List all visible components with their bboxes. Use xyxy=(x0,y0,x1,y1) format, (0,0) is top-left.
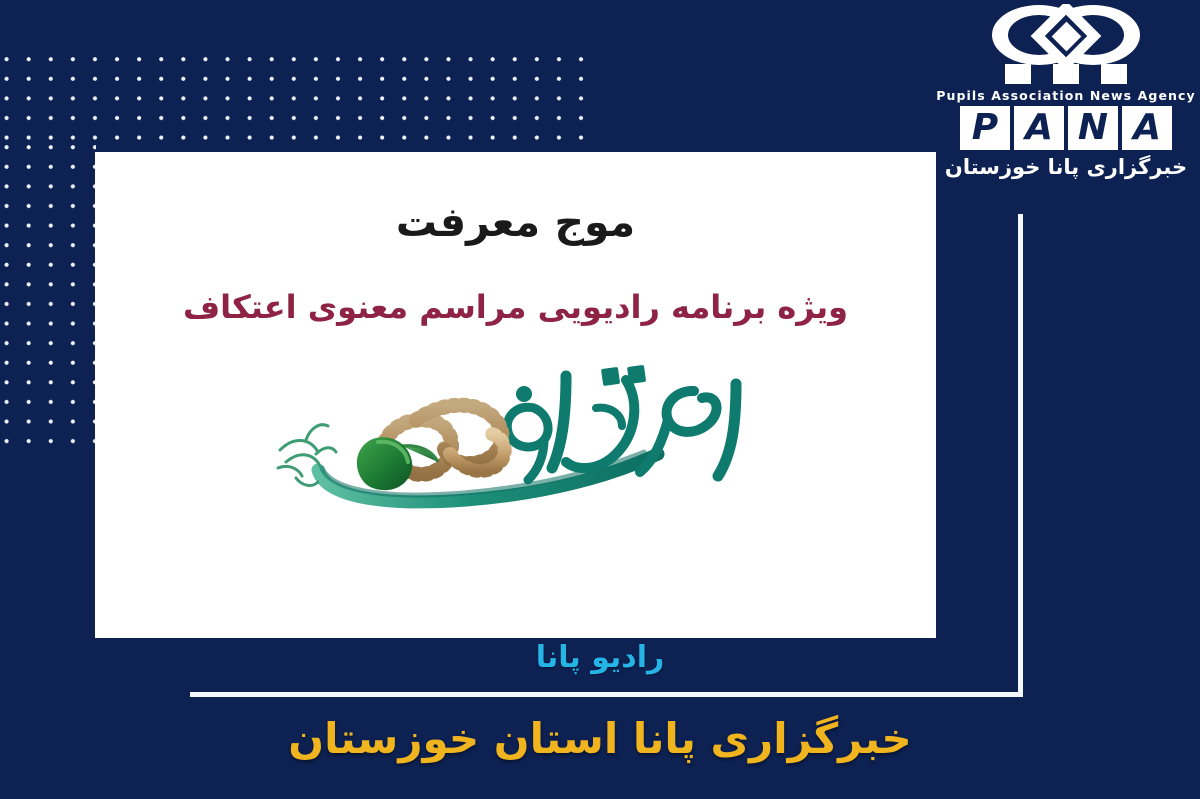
logo-letter-a2: A xyxy=(1122,106,1172,150)
logo-letter-n: N xyxy=(1068,106,1118,150)
logo-persian-name: خبرگزاری پانا خوزستان xyxy=(945,155,1187,179)
dot-pattern-left xyxy=(0,145,96,445)
logo-wordmark: P A N A xyxy=(960,106,1172,150)
logo-square-3 xyxy=(1005,64,1031,84)
logo-square-2 xyxy=(1053,64,1079,84)
logo-square-accents xyxy=(1005,64,1127,84)
poster-canvas: موج معرفت ویژه برنامه رادیویی مراسم معنو… xyxy=(0,0,1200,799)
logo-letter-a1: A xyxy=(1014,106,1064,150)
agency-name-label: خبرگزاری پانا استان خوزستان xyxy=(0,714,1200,763)
frame-line-vertical xyxy=(1018,214,1023,697)
content-card: موج معرفت ویژه برنامه رادیویی مراسم معنو… xyxy=(95,152,936,638)
frame-line-horizontal xyxy=(190,692,1023,697)
logo-letter-p: P xyxy=(960,106,1010,150)
etekaf-calligraphy-artwork xyxy=(266,350,766,535)
program-title: موج معرفت xyxy=(396,200,635,245)
dot-pattern-top xyxy=(0,55,598,155)
logo-square-1 xyxy=(1101,64,1127,84)
logo-tagline: Pupils Association News Agency xyxy=(936,88,1196,103)
pana-emblem-icon xyxy=(979,4,1153,66)
pana-logo: Pupils Association News Agency P A N A خ… xyxy=(950,4,1182,179)
radio-pana-label: رادیو پانا xyxy=(0,640,1200,675)
program-subtitle: ویژه برنامه رادیویی مراسم معنوی اعتکاف xyxy=(183,289,848,326)
